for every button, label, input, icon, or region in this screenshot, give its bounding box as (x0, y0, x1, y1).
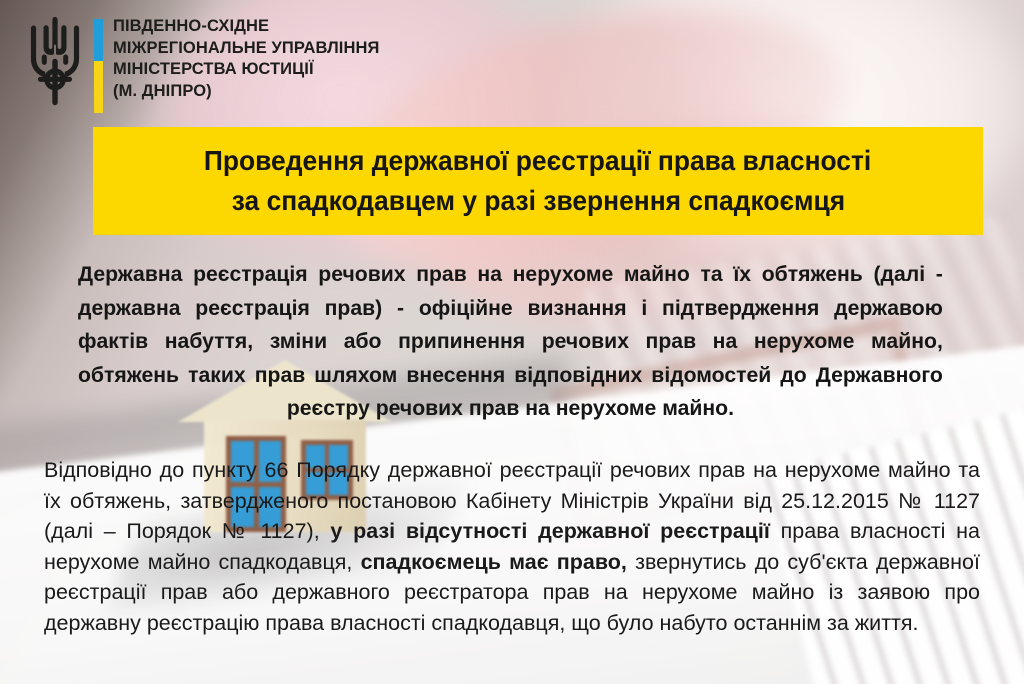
body-paragraph-segment-1: у разі відсутності державної реєстрації (330, 519, 770, 543)
intro-paragraph: Державна реєстрація речових прав на неру… (78, 258, 943, 426)
body-paragraph: Відповідно до пункту 66 Порядку державно… (44, 455, 980, 639)
title-line-2: за спадкодавцем у разі звернення спадкоє… (231, 181, 844, 221)
ukraine-trident-icon (22, 14, 88, 110)
organization-lockup: ПІВДЕННО-СХІДНЕ МІЖРЕГІОНАЛЬНЕ УПРАВЛІНН… (22, 14, 379, 113)
org-line-2: МІЖРЕГІОНАЛЬНЕ УПРАВЛІННЯ (113, 38, 379, 60)
organization-name: ПІВДЕННО-СХІДНЕ МІЖРЕГІОНАЛЬНЕ УПРАВЛІНН… (113, 14, 379, 102)
body-paragraph-segment-3: спадкоємець має право, (361, 550, 627, 574)
ukraine-flag-bar (94, 19, 103, 113)
org-line-1: ПІВДЕННО-СХІДНЕ (113, 16, 379, 38)
org-line-3: МІНІСТЕРСТВА ЮСТИЦІЇ (113, 59, 379, 81)
flag-bar-blue (94, 19, 103, 61)
slide-canvas: ПІВДЕННО-СХІДНЕ МІЖРЕГІОНАЛЬНЕ УПРАВЛІНН… (0, 0, 1024, 684)
title-banner: Проведення державної реєстрації права вл… (93, 127, 983, 235)
title-line-1: Проведення державної реєстрації права вл… (204, 141, 871, 181)
slide-content: ПІВДЕННО-СХІДНЕ МІЖРЕГІОНАЛЬНЕ УПРАВЛІНН… (0, 0, 1024, 684)
org-line-4: (М. ДНІПРО) (113, 81, 379, 103)
flag-bar-yellow (94, 61, 103, 113)
